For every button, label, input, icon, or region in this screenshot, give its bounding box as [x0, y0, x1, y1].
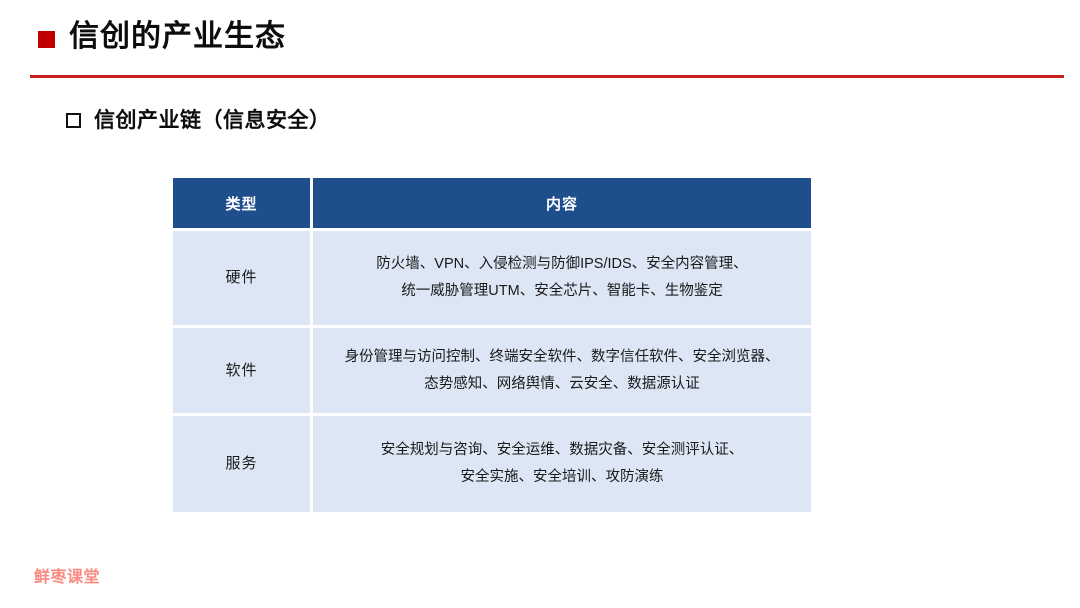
table-row: 硬件 防火墙、VPN、入侵检测与防御IPS/IDS、安全内容管理、 统一威胁管理…	[173, 228, 811, 325]
column-header-type: 类型	[173, 178, 313, 228]
cell-content-service: 安全规划与咨询、安全运维、数据灾备、安全测评认证、 安全实施、安全培训、攻防演练	[313, 413, 811, 512]
industry-chain-table-wrapper: 类型 内容 硬件 防火墙、VPN、入侵检测与防御IPS/IDS、安全内容管理、 …	[173, 178, 811, 512]
cell-type-software: 软件	[173, 325, 313, 413]
column-header-content: 内容	[313, 178, 811, 228]
table-row: 服务 安全规划与咨询、安全运维、数据灾备、安全测评认证、 安全实施、安全培训、攻…	[173, 413, 811, 512]
page-title: 信创的产业生态	[69, 20, 286, 55]
subtitle-label: 信创产业链（信息安全）	[94, 104, 331, 134]
footer-logo: 鲜枣课堂	[34, 563, 100, 587]
table-row: 软件 身份管理与访问控制、终端安全软件、数字信任软件、安全浏览器、 态势感知、网…	[173, 325, 811, 413]
cell-type-service: 服务	[173, 413, 313, 512]
content-line: 态势感知、网络舆情、云安全、数据源认证	[313, 371, 811, 398]
slide-canvas: 信创的产业生态 信创产业链（信息安全） 类型 内容 硬件 防	[0, 0, 1080, 608]
industry-chain-table: 类型 内容 硬件 防火墙、VPN、入侵检测与防御IPS/IDS、安全内容管理、 …	[173, 178, 811, 512]
content-line: 防火墙、VPN、入侵检测与防御IPS/IDS、安全内容管理、	[313, 251, 811, 278]
filled-square-bullet-icon	[38, 31, 55, 48]
cell-content-hardware: 防火墙、VPN、入侵检测与防御IPS/IDS、安全内容管理、 统一威胁管理UTM…	[313, 228, 811, 325]
content-line: 安全实施、安全培训、攻防演练	[313, 464, 811, 491]
table-body: 硬件 防火墙、VPN、入侵检测与防御IPS/IDS、安全内容管理、 统一威胁管理…	[173, 228, 811, 512]
hollow-square-bullet-icon	[66, 113, 81, 128]
content-line: 安全规划与咨询、安全运维、数据灾备、安全测评认证、	[313, 437, 811, 464]
cell-type-hardware: 硬件	[173, 228, 313, 325]
table-header-row: 类型 内容	[173, 178, 811, 228]
table-header: 类型 内容	[173, 178, 811, 228]
slide-subtitle: 信创产业链（信息安全）	[66, 104, 331, 134]
content-line: 统一威胁管理UTM、安全芯片、智能卡、生物鉴定	[313, 278, 811, 305]
slide-title: 信创的产业生态	[38, 20, 286, 55]
cell-content-software: 身份管理与访问控制、终端安全软件、数字信任软件、安全浏览器、 态势感知、网络舆情…	[313, 325, 811, 413]
content-line: 身份管理与访问控制、终端安全软件、数字信任软件、安全浏览器、	[313, 344, 811, 371]
title-divider-rule	[30, 75, 1064, 78]
